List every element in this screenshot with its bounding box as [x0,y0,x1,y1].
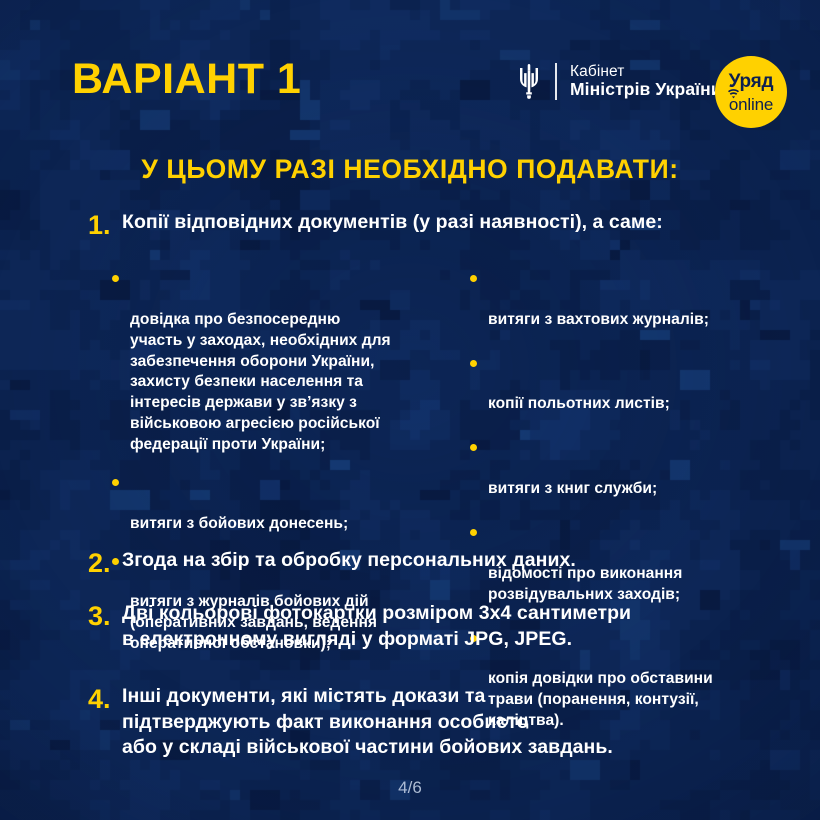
bullet-dot-icon [470,529,477,536]
bullet-text: витяги з книг служби; [488,480,657,497]
uryad-online-badge[interactable]: Уряд online [715,56,787,128]
list-item-1: 1. Копії відповідних документів (у разі … [88,210,780,242]
bullet-dot-icon [470,444,477,451]
cabinet-of-ministers-text: Кабінет Міністрів України [568,63,722,100]
bullet-text: витяги з вахтових журналів; [488,311,709,328]
wifi-icon [727,88,740,99]
trident-icon [514,62,544,100]
bullet-dot-icon [470,360,477,367]
bullet-item: витяги з бойових донесень; [112,472,430,535]
bullet-item: копії польотних листів; [470,353,788,416]
bullet-dot-icon [470,275,477,282]
logo-line-2: Міністрів України [570,80,722,100]
bullet-item: витяги з вахтових журналів; [470,268,788,331]
bullet-text: витяги з бойових донесень; [130,515,348,532]
page-indicator: 4/6 [0,778,820,798]
list-item-4-number: 4. [88,684,122,716]
list-item-3-text: Дві кольорові фотокартки розміром 3х4 са… [122,601,631,652]
section-subtitle: У ЦЬОМУ РАЗІ НЕОБХІДНО ПОДАВАТИ: [0,154,820,185]
logo-divider [555,63,557,100]
logo-line-1: Кабінет [570,63,722,80]
badge-label-online: online [729,96,773,113]
list-item-2-number: 2. [88,548,122,580]
cabinet-of-ministers-logo: Кабінет Міністрів України [514,62,722,100]
list-item-2: 2. Згода на збір та обробку персональних… [88,548,780,580]
bullet-dot-icon [112,479,119,486]
bullet-item: довідка про безпосередню участь у захода… [112,268,430,456]
sub-bullet-columns: довідка про безпосередню участь у захода… [112,268,788,754]
list-item-2-text: Згода на збір та обробку персональних да… [122,548,576,574]
list-item-3: 3. Дві кольорові фотокартки розміром 3х4… [88,601,780,652]
slide-root: ВАРІАНТ 1 [0,0,820,820]
slide-header: ВАРІАНТ 1 [72,56,788,132]
list-item-4: 4. Інші документи, які містять докази та… [88,684,780,761]
bullet-item: витяги з книг служби; [470,437,788,500]
bullet-dot-icon [112,275,119,282]
list-item-1-text: Копії відповідних документів (у разі ная… [122,210,663,236]
bullet-text: копії польотних листів; [488,395,670,412]
sub-bullets-left-column: довідка про безпосередню участь у захода… [112,268,430,754]
list-item-4-text: Інші документи, які містять докази та пі… [122,684,613,761]
page-title: ВАРІАНТ 1 [72,58,301,101]
list-item-3-number: 3. [88,601,122,633]
bullet-text: довідка про безпосередню участь у захода… [130,311,391,453]
sub-bullets-right-column: витяги з вахтових журналів; копії польот… [470,268,788,754]
list-item-1-number: 1. [88,210,122,242]
